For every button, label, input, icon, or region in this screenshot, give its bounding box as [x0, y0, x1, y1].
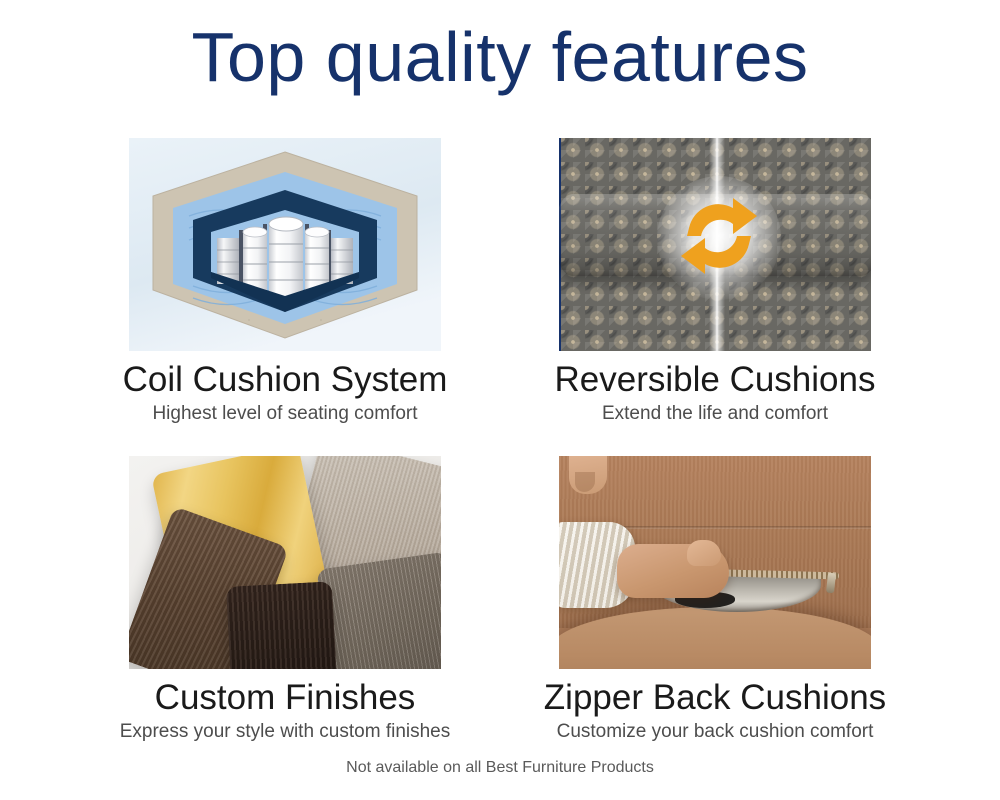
feature-heading: Zipper Back Cushions — [500, 676, 930, 720]
feature-heading: Custom Finishes — [70, 676, 500, 720]
feature-heading: Reversible Cushions — [500, 358, 930, 402]
coil-cushion-image — [129, 138, 441, 351]
feature-card-reversible-cushions: Reversible Cushions Extend the life and … — [500, 138, 930, 443]
feature-card-zipper-back-cushions: Zipper Back Cushions Customize your back… — [500, 456, 930, 761]
zipper-back-cushions-image — [559, 456, 871, 669]
feature-subtitle: Customize your back cushion comfort — [500, 719, 930, 744]
feature-card-coil-cushion-system: Coil Cushion System Highest level of sea… — [70, 138, 500, 443]
swatch-espresso — [226, 581, 338, 669]
finish-swatches-photo — [129, 456, 441, 669]
feature-heading: Coil Cushion System — [70, 358, 500, 402]
feature-subtitle: Extend the life and comfort — [500, 401, 930, 426]
upper-hand — [569, 456, 607, 494]
zippered-cushion-photo — [559, 456, 871, 669]
custom-finishes-image — [129, 456, 441, 669]
sofa-cushion-photo — [559, 138, 871, 351]
feature-card-custom-finishes: Custom Finishes Express your style with … — [70, 456, 500, 761]
reverse-arrows-icon — [671, 188, 767, 284]
footer-disclaimer: Not available on all Best Furniture Prod… — [0, 757, 1000, 779]
feature-showcase-page: Top quality features — [0, 0, 1000, 800]
feature-subtitle: Highest level of seating comfort — [70, 401, 500, 426]
thumb — [687, 540, 721, 566]
coil-cushion-cutaway-icon — [129, 138, 441, 351]
features-grid: Coil Cushion System Highest level of sea… — [0, 138, 1000, 748]
feature-subtitle: Express your style with custom finishes — [70, 719, 500, 744]
page-title: Top quality features — [0, 14, 1000, 100]
reversible-cushions-image — [559, 138, 871, 351]
